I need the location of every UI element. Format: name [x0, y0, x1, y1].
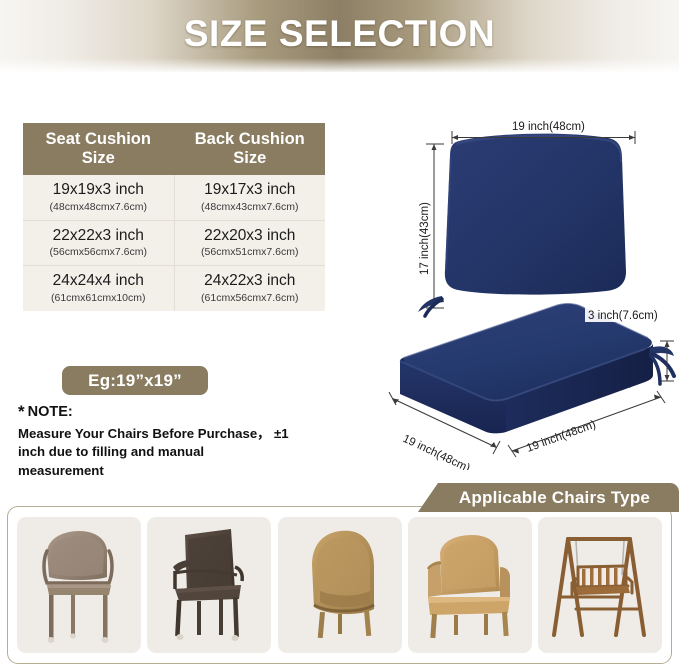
seat-front-width-label: 19 inch(48cm): [401, 433, 472, 470]
size-table: Seat Cushion Size Back Cushion Size 19x1…: [23, 123, 325, 311]
chair-card: [538, 517, 662, 653]
example-size-badge: Eg:19”x19”: [62, 366, 208, 395]
table-row: 19x19x3 inch (48cmx48cmx7.6cm) 19x17x3 i…: [23, 175, 325, 220]
page-title: SIZE SELECTION: [0, 13, 679, 55]
chair-card: [147, 517, 271, 653]
back-size-cm: (48cmx43cmx7.6cm): [177, 201, 324, 213]
back-size-cell: 24x22x3 inch (61cmx56cmx7.6cm): [174, 266, 325, 311]
cushion-diagram: 19 inch(48cm) 17 inch(43cm): [330, 100, 679, 470]
size-selection-infographic: SIZE SELECTION Seat Cushion Size Back Cu…: [0, 0, 679, 672]
note-heading: *NOTE:: [18, 403, 290, 422]
back-size-cm: (61cmx56cmx7.6cm): [177, 292, 324, 304]
seat-size-cell: 24x24x4 inch (61cmx61cmx10cm): [23, 266, 174, 311]
seat-size-cm: (48cmx48cmx7.6cm): [25, 201, 172, 213]
back-size-inch: 19x17x3 inch: [177, 181, 324, 200]
dark-brown-high-back-wicker-chair-icon: [147, 517, 271, 653]
applicable-chairs-label: Applicable Chairs Type: [447, 488, 650, 508]
back-cushion-height-label: 17 inch(43cm): [419, 202, 431, 275]
tan-wicker-tub-chair-icon: [278, 517, 402, 653]
note-block: *NOTE: Measure Your Chairs Before Purcha…: [18, 403, 290, 481]
seat-size-cell: 22x22x3 inch (56cmx56cmx7.6cm): [23, 220, 174, 266]
chair-card: [278, 517, 402, 653]
note-heading-label: NOTE:: [28, 404, 73, 420]
table-row: 22x22x3 inch (56cmx56cmx7.6cm) 22x20x3 i…: [23, 220, 325, 266]
cushion-diagram-svg: 19 inch(48cm) 17 inch(43cm): [330, 100, 679, 470]
gray-wicker-round-back-chair-icon: [17, 517, 141, 653]
chair-card: [17, 517, 141, 653]
column-header-back-cushion-size: Back Cushion Size: [174, 123, 325, 175]
note-body: Measure Your Chairs Before Purchase， ±1 …: [18, 425, 290, 481]
table-row: 24x24x4 inch (61cmx61cmx10cm) 24x22x3 in…: [23, 266, 325, 311]
applicable-chairs-container: [7, 506, 672, 664]
seat-size-inch: 19x19x3 inch: [25, 181, 172, 200]
back-size-inch: 22x20x3 inch: [177, 227, 324, 246]
applicable-chairs-banner: Applicable Chairs Type: [418, 483, 679, 512]
back-size-cm: (56cmx51cmx7.6cm): [177, 246, 324, 258]
header-banner: SIZE SELECTION: [0, 0, 679, 72]
natural-rattan-armchair-icon: [408, 517, 532, 653]
back-size-cell: 22x20x3 inch (56cmx51cmx7.6cm): [174, 220, 325, 266]
asterisk-icon: *: [18, 402, 25, 421]
back-cushion-height-dimension: 17 inch(43cm): [419, 144, 444, 308]
back-size-cell: 19x17x3 inch (48cmx43cmx7.6cm): [174, 175, 325, 220]
back-cushion-width-label: 19 inch(48cm): [512, 121, 585, 133]
seat-size-cell: 19x19x3 inch (48cmx48cmx7.6cm): [23, 175, 174, 220]
wooden-porch-swing-icon: [538, 517, 662, 653]
back-size-inch: 24x22x3 inch: [177, 272, 324, 291]
seat-size-cm: (56cmx56cmx7.6cm): [25, 246, 172, 258]
table-header-row: Seat Cushion Size Back Cushion Size: [23, 123, 325, 175]
column-header-seat-cushion-size: Seat Cushion Size: [23, 123, 174, 175]
example-size-label: Eg:19”x19”: [88, 371, 182, 391]
seat-size-inch: 22x22x3 inch: [25, 227, 172, 246]
seat-thickness-label: 3 inch(7.6cm): [588, 310, 658, 322]
back-cushion-tie-left: [418, 296, 444, 316]
chair-card: [408, 517, 532, 653]
back-cushion-shape: [445, 134, 626, 295]
seat-size-cm: (61cmx61cmx10cm): [25, 292, 172, 304]
seat-side-depth-label: 19 inch(48cm): [525, 419, 598, 455]
seat-size-inch: 24x24x4 inch: [25, 272, 172, 291]
